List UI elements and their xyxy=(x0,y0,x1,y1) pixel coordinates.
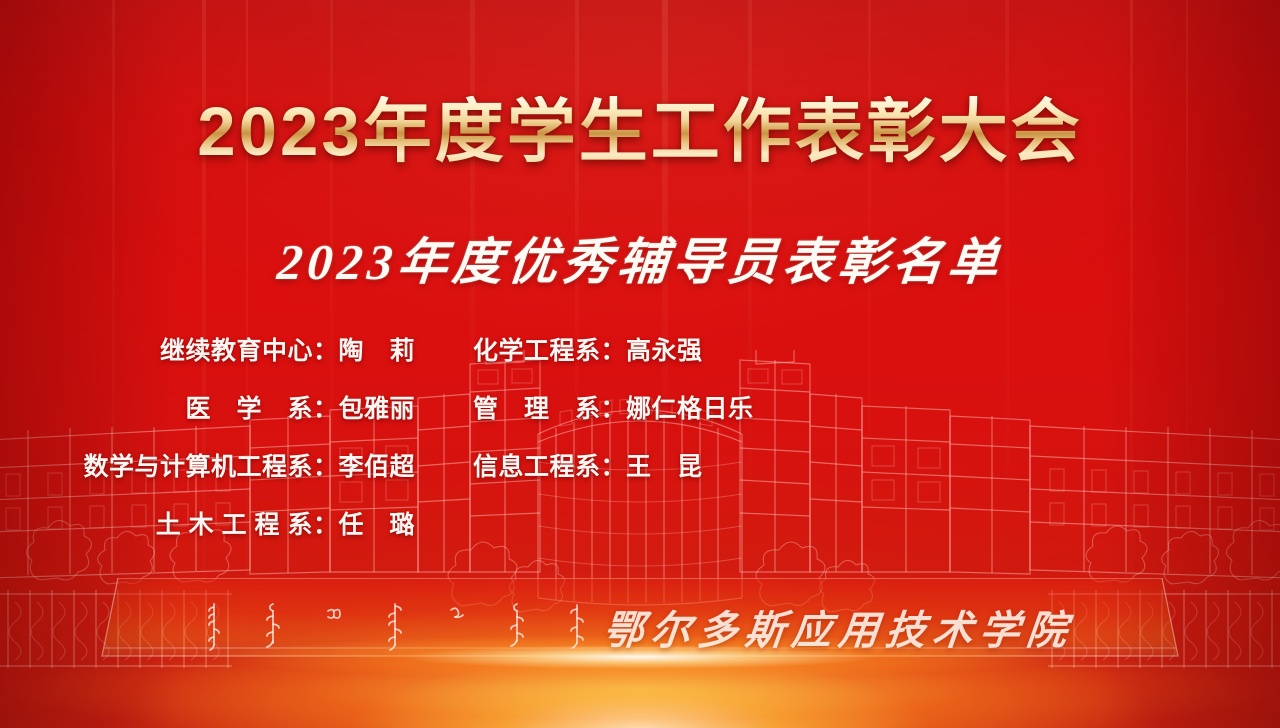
subtitle-area: 2023年度优秀辅导员表彰名单 xyxy=(0,222,1280,294)
award-ceremony-banner: 2023年度学生工作表彰大会 2023年度优秀辅导员表彰名单 继续教育中心：陶 … xyxy=(0,0,1280,728)
honoree-entry: 医 学 系：包雅丽 xyxy=(0,389,415,425)
mongolian-word xyxy=(446,601,466,651)
honoree-entry: 土 木 工 程 系：任 璐 xyxy=(0,505,415,541)
school-name: 鄂尔多斯应用技术学院 xyxy=(601,598,1077,656)
honoree-entry: 数学与计算机工程系：李佰超 xyxy=(0,447,415,483)
mongolian-word xyxy=(568,601,586,651)
honoree-entry: 信息工程系：王 昆 xyxy=(473,447,888,483)
honoree-entry: 化学工程系：高永强 xyxy=(473,331,888,367)
honor-roll-list: 继续教育中心：陶 莉 化学工程系：高永强 医 学 系：包雅丽 管 理 系：娜仁格… xyxy=(0,320,1280,552)
school-identity: 鄂尔多斯应用技术学院 xyxy=(0,598,1280,656)
honoree-entry: 管 理 系：娜仁格日乐 xyxy=(473,389,888,425)
page-subtitle: 2023年度优秀辅导员表彰名单 xyxy=(274,222,1005,294)
honor-roll-row: 土 木 工 程 系：任 璐 xyxy=(0,494,1280,552)
mongolian-word xyxy=(508,601,526,651)
mongolian-word xyxy=(324,601,344,651)
title-area: 2023年度学生工作表彰大会 xyxy=(0,96,1280,168)
mongolian-school-name xyxy=(206,601,586,653)
honoree-entry: 继续教育中心：陶 莉 xyxy=(0,331,415,367)
mongolian-word xyxy=(206,601,222,651)
honor-roll-row: 医 学 系：包雅丽 管 理 系：娜仁格日乐 xyxy=(0,378,1280,436)
mongolian-word xyxy=(264,601,282,651)
mongolian-word xyxy=(386,601,404,651)
page-title: 2023年度学生工作表彰大会 xyxy=(197,96,1083,168)
honor-roll-row: 继续教育中心：陶 莉 化学工程系：高永强 xyxy=(0,320,1280,378)
honor-roll-row: 数学与计算机工程系：李佰超 信息工程系：王 昆 xyxy=(0,436,1280,494)
